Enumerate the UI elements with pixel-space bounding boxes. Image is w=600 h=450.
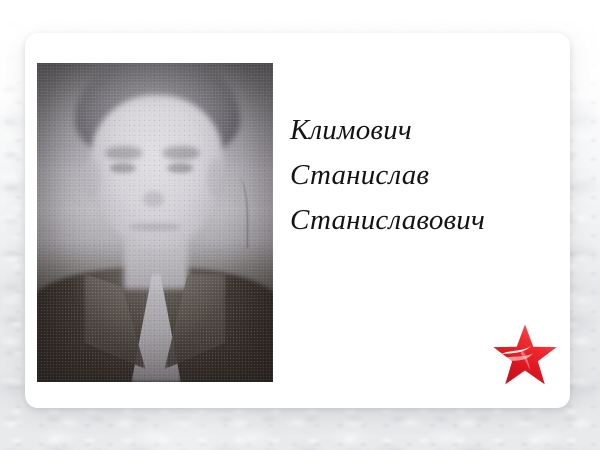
person-patronymic: Станиславович	[290, 198, 558, 243]
memorial-card: Климович Станислав Станиславович	[25, 33, 570, 408]
person-surname: Климович	[290, 108, 558, 153]
person-name-block: Климович Станислав Станиславович	[290, 108, 558, 243]
portrait-photo-image	[37, 63, 273, 382]
photo-vignette	[37, 63, 273, 382]
person-given-name: Станислав	[290, 153, 558, 198]
portrait-photo	[37, 63, 273, 382]
red-star-icon	[492, 322, 558, 390]
memorial-card-screen: Климович Станислав Станиславович	[0, 0, 600, 450]
